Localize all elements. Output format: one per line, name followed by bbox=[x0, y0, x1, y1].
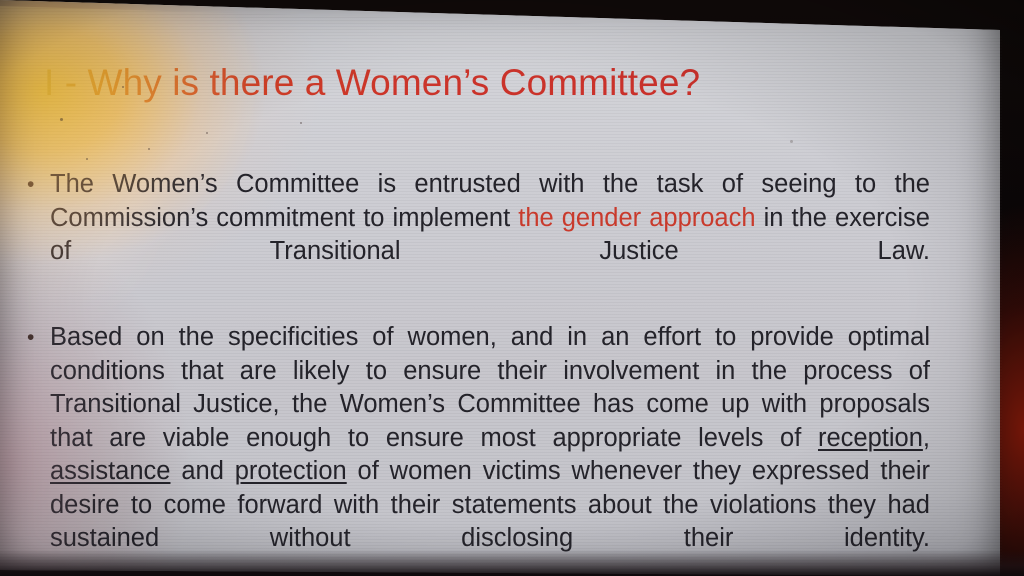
underlined-protection: protection bbox=[235, 457, 347, 485]
underlined-assistance: assistance bbox=[50, 457, 170, 485]
underlined-reception: reception bbox=[818, 424, 923, 452]
bullet-2-segment-5: and bbox=[170, 457, 234, 485]
slide-photograph: I - Why is there a Women’s Committee? • … bbox=[0, 0, 1024, 576]
bullet-2-segment-1: Based on the specificities of women, and… bbox=[50, 323, 930, 452]
list-item: • Based on the specificities of women, a… bbox=[24, 321, 930, 576]
slide-content: I - Why is there a Women’s Committee? • … bbox=[0, 0, 1002, 576]
bullet-2-segment-3: , bbox=[923, 424, 930, 452]
bullet-text-1: The Women’s Committee is entrusted with … bbox=[50, 168, 930, 302]
bullet-text-2: Based on the specificities of women, and… bbox=[50, 321, 930, 576]
bullet-marker: • bbox=[27, 168, 34, 201]
page-title: I - Why is there a Women’s Committee? bbox=[44, 62, 700, 104]
bullet-1-highlight: the gender approach bbox=[518, 204, 755, 232]
list-item: • The Women’s Committee is entrusted wit… bbox=[24, 168, 930, 302]
slide-body: • The Women’s Committee is entrusted wit… bbox=[24, 168, 930, 576]
bullet-marker: • bbox=[27, 321, 34, 354]
